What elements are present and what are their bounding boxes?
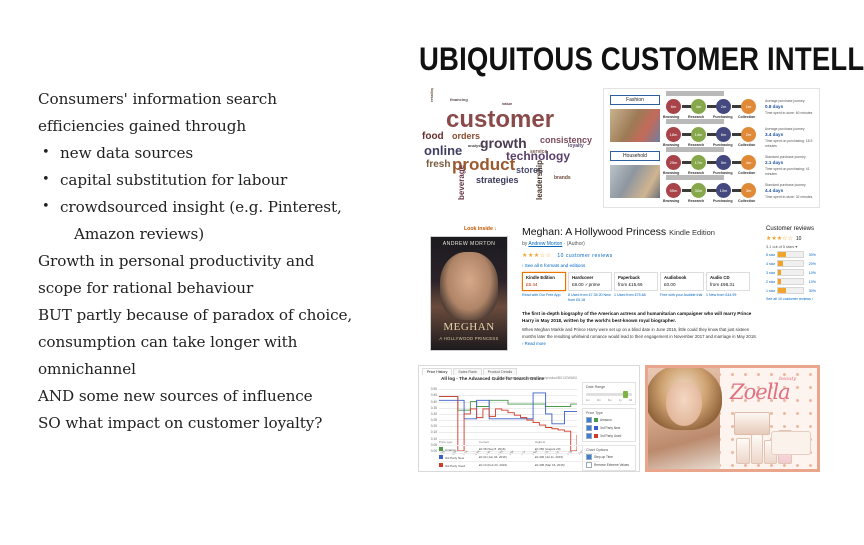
journey-stat-value: 0.8 days (765, 104, 783, 109)
table-row: 3rd Party New£0.32 (Jun 04, 2016)£0.400 … (439, 453, 599, 461)
date-range-tick[interactable]: 1y (619, 398, 622, 402)
byline-suffix: · (Author) (562, 241, 585, 247)
review-bar-track (777, 287, 804, 294)
journey-stat: Average purchase journey3.4 daysTime spe… (765, 127, 815, 148)
word-cloud-term: beverage (458, 165, 466, 200)
cover-title: MEGHAN (431, 321, 507, 333)
format-option[interactable]: Hardcover£8.00 ✓prime (568, 272, 612, 291)
journey-stage-node: 4m (741, 155, 756, 170)
word-cloud-term: brands (554, 176, 571, 181)
y-tick-label: 0.10 (431, 437, 437, 441)
word-cloud-term: customer (446, 108, 554, 132)
journey-row: 18mBrowsing14mResearch6mPurchasing2mColl… (666, 125, 761, 148)
review-bar-row[interactable]: 4 star20% (766, 260, 816, 267)
format-subnote[interactable]: 1 New from £44.99 (706, 293, 750, 304)
chart-tab[interactable]: Price History (422, 368, 452, 375)
format-price: from £98.31 (710, 282, 746, 287)
slider-knob[interactable] (623, 391, 628, 398)
word-cloud-term: retailing (430, 88, 434, 102)
see-all-formats-link[interactable]: › See all 6 formats and editions (522, 263, 758, 268)
table-cell-highest: £0.350 (August 20) (535, 447, 599, 452)
table-cell-series: 3rd Party New (439, 455, 479, 460)
table-cell-highest: £0.495 (Mar 16, 2015) (535, 463, 599, 468)
word-cloud-term: value (502, 102, 512, 106)
y-tick-label: 0.20 (431, 424, 437, 428)
stars-glyphs: ★★★☆☆ (522, 253, 551, 259)
product-binding: Kindle Edition (669, 228, 715, 237)
format-name: Audio CD (710, 275, 746, 280)
column-header: Highest (535, 440, 599, 444)
table-cell-series: 3rd Party Used (439, 463, 479, 468)
series-name: Amazon (445, 448, 456, 452)
journey-stage-label: Purchasing (713, 199, 733, 203)
journey-stat-note: Time spent in-store: 32 minutes (765, 195, 812, 199)
price-type-label: Price Type (586, 411, 632, 415)
journey-stage-node: 17m (691, 155, 706, 170)
journey-category-label: Household (610, 151, 660, 161)
y-tick-label: 0.40 (431, 400, 437, 404)
journey-stage-node: 6m (666, 99, 681, 114)
journey-stage-node: 2m (716, 99, 731, 114)
product-bottle (751, 434, 763, 464)
series-color-swatch (594, 426, 598, 430)
date-range-ticks: 1m3m6m1yAll (586, 398, 632, 402)
reviews-stars: ★★★☆☆10 (766, 235, 816, 242)
review-bar-track (777, 251, 804, 258)
journey-stage-node: 55m (666, 183, 681, 198)
journey-stage-node: 25m (666, 155, 681, 170)
cover-portrait (440, 252, 498, 320)
see-all-reviews-link[interactable]: See all 10 customer reviews › (766, 297, 816, 301)
journey-stat: Average purchase journey0.8 daysTime spe… (765, 99, 815, 116)
product-title: Meghan: A Hollywood Princess Kindle Edit… (522, 226, 758, 238)
date-range-label: Date Range (586, 385, 632, 389)
product-pouch (771, 431, 811, 455)
review-bar-label: 1 star (766, 289, 777, 293)
format-option[interactable]: Kindle Edition£5.44 (522, 272, 566, 291)
word-cloud-term: analysis (468, 144, 484, 148)
journey-row: 6mBrowsing4mResearch2mPurchasing1mCollec… (666, 97, 761, 120)
word-cloud-term: food (422, 132, 444, 142)
series-name: 3rd Party New (445, 456, 464, 460)
review-bar-row[interactable]: 1 star30% (766, 287, 816, 294)
journey-stage-label: Collection (738, 143, 755, 147)
review-bar-label: 5 star (766, 253, 777, 257)
date-range-tick[interactable]: 1m (586, 398, 590, 402)
format-price: £0.00 (664, 282, 700, 287)
date-range-tick[interactable]: All (629, 398, 632, 402)
journey-category-label: Fashion (610, 95, 660, 105)
series-color-swatch (594, 418, 598, 422)
word-cloud-term: leadership (536, 160, 544, 200)
y-tick-label: 0.15 (431, 430, 437, 434)
review-bar-percent: 10% (804, 271, 816, 275)
review-bar-fill (778, 252, 786, 257)
y-tick-label: 0.45 (431, 393, 437, 397)
table-cell-current: £0.32 (Jun 04, 2016) (479, 455, 535, 460)
cover-author: ANDREW MORTON (431, 241, 507, 247)
date-range-box: Date Range 1m3m6m1yAll (582, 382, 636, 405)
format-price: £5.44 (526, 282, 562, 287)
table-cell-series: Amazon (439, 447, 479, 452)
reviews-count: 10 (796, 236, 802, 242)
byline: by Andrew Morton · (Author) (522, 241, 758, 247)
y-tick-label: 0.25 (431, 418, 437, 422)
journey-stage-node: 32m (691, 183, 706, 198)
journey-category-photo (610, 165, 660, 198)
description-bold: The first in-depth biography of the Amer… (522, 310, 758, 325)
price-type-option[interactable]: Amazon (586, 417, 632, 423)
journey-segment-band (666, 119, 724, 124)
journey-row: 55mBrowsing32mResearch10mPurchasing3mCol… (666, 181, 761, 204)
checkbox-icon[interactable] (586, 425, 592, 431)
review-bar-row[interactable]: 5 star30% (766, 251, 816, 258)
price-type-name: 3rd Party New (600, 426, 620, 430)
product-details: Meghan: A Hollywood Princess Kindle Edit… (522, 226, 758, 346)
chart-series-line (439, 393, 577, 424)
journey-stage-node: 3m (741, 183, 756, 198)
y-tick-label: 0.35 (431, 406, 437, 410)
journey-stage-node: 4m (691, 99, 706, 114)
chart-tab[interactable]: Product Details (483, 368, 517, 375)
format-subnote[interactable]: Free with your Audible trial (660, 293, 704, 304)
zoella-brand-sub: beauty (779, 376, 796, 382)
journey-stage-label: Collection (738, 115, 755, 119)
reviews-average[interactable]: 3.1 out of 5 stars ▾ (766, 244, 816, 249)
table-cell-current: £0.38 (Sep 8, 2016) (479, 447, 535, 452)
y-tick-label: 0.30 (431, 412, 437, 416)
face-shape (666, 382, 702, 426)
price-history-chart-image: Price HistorySales RankProduct Details A… (418, 365, 640, 472)
review-bar-row[interactable]: 3 star10% (766, 269, 816, 276)
journey-stage-node: 14m (691, 127, 706, 142)
review-bar-label: 2 star (766, 280, 777, 284)
journey-stat-value: 2.1 days (765, 160, 783, 165)
read-more-link[interactable]: › Read more (522, 341, 758, 346)
zoella-portrait (648, 368, 720, 469)
author-link[interactable]: Andrew Morton (528, 241, 562, 247)
description: When Meghan Markle and Prince Harry were… (522, 327, 758, 341)
cover-subtitle: A HOLLYWOOD PRINCESS (431, 336, 507, 341)
journey-stat-value: 3.4 days (765, 132, 783, 137)
rating-stars[interactable]: ★★★☆☆10 customer reviews (522, 252, 758, 259)
price-type-box: Price Type Amazon3rd Party New3rd Party … (582, 408, 636, 442)
journey-stage-node: 2m (741, 127, 756, 142)
customer-journey-chart-image: Fashion Household 6mBrowsing4mResearch2m… (603, 88, 820, 208)
image-collage: customergrowthproductonlinetechnologycon… (0, 0, 864, 545)
table-row: 3rd Party Used£0.13 (Feb 23, 2016)£0.495… (439, 461, 599, 469)
review-bar-percent: 20% (804, 262, 816, 266)
journey-segment-band (666, 175, 724, 180)
table-cell-highest: £0.400 (Jul 11, 2015) (535, 455, 599, 460)
checkbox-icon[interactable] (586, 417, 592, 423)
format-name: Kindle Edition (526, 275, 562, 280)
amazon-product-page-image: Look inside ↓ ANDREW MORTON MEGHAN A HOL… (418, 214, 820, 354)
format-price: £8.00 ✓prime (572, 282, 608, 288)
word-cloud-term: online (424, 144, 462, 157)
journey-stage-node: 5m (716, 155, 731, 170)
word-cloud-term: orders (452, 132, 480, 141)
review-bar-fill (778, 270, 781, 275)
journey-stat-label: Average purchase journey (765, 99, 805, 103)
journey-segment-band (666, 91, 724, 96)
format-name: Hardcover (572, 275, 608, 280)
journey-stage-label: Research (688, 199, 704, 203)
product-title-text: Meghan: A Hollywood Princess (522, 226, 666, 238)
column-header: Current (479, 440, 535, 444)
review-bar-row[interactable]: 2 star10% (766, 278, 816, 285)
review-bar-label: 4 star (766, 262, 777, 266)
price-type-name: Amazon (600, 418, 612, 422)
customer-reviews-panel: Customer reviews ★★★☆☆10 3.1 out of 5 st… (766, 226, 816, 301)
journey-segment-band (666, 147, 724, 152)
format-subnote[interactable]: 1 Used from £75.68 (614, 293, 658, 304)
stars-glyphs: ★★★☆☆ (766, 236, 793, 242)
review-bar-fill (778, 261, 783, 266)
word-cloud-term: fresh (426, 160, 450, 170)
format-option[interactable]: Audio CDfrom £98.31 (706, 272, 750, 291)
zoella-beauty-image: Zoella beauty (645, 365, 820, 472)
y-tick-label: 0.50 (431, 387, 437, 391)
review-bar-percent: 30% (804, 253, 816, 257)
journey-stage-label: Collection (738, 199, 755, 203)
product-bottle (736, 438, 750, 464)
word-cloud-image: customergrowthproductonlinetechnologycon… (418, 88, 598, 208)
journey-stat-label: Standard purchase journey (765, 183, 806, 187)
journey-stage-label: Collection (738, 171, 755, 175)
journey-row: 25mBrowsing17mResearch5mPurchasing4mColl… (666, 153, 761, 176)
word-cloud-term: service (530, 150, 547, 155)
chart-summary-table: Price typeCurrentHighestAmazon£0.38 (Sep… (439, 439, 599, 469)
journey-stage-node: 1m (741, 99, 756, 114)
chart-tabs: Price HistorySales RankProduct Details (419, 366, 639, 375)
series-color-swatch (439, 455, 443, 459)
journey-stat-label: Average purchase journey (765, 127, 805, 131)
review-bar-fill (778, 288, 786, 293)
format-name: Audiobook (664, 275, 700, 280)
format-subnote[interactable]: 8 Used from £7.35 20 New from £5.18 (568, 293, 612, 304)
product-tin (734, 412, 770, 435)
review-bar-track (777, 278, 804, 285)
series-name: 3rd Party Used (445, 464, 465, 468)
table-cell-current: £0.13 (Feb 23, 2016) (479, 463, 535, 468)
journey-stat: Standard purchase journey2.1 daysTime sp… (765, 155, 815, 176)
date-range-tick[interactable]: 6m (608, 398, 612, 402)
review-bar-percent: 30% (804, 289, 816, 293)
word-cloud-term: financing (450, 98, 468, 102)
word-cloud-term: consistency (540, 136, 592, 145)
series-color-swatch (439, 463, 443, 467)
customer-reviews-heading: Customer reviews (766, 226, 816, 232)
look-inside-link[interactable]: Look inside ↓ (464, 226, 497, 232)
format-tabs: Kindle Edition£5.44Hardcover£8.00 ✓prime… (522, 272, 758, 291)
review-bar-track (777, 260, 804, 267)
journey-stage-node: 10m (716, 183, 731, 198)
chart-series-line (439, 397, 577, 411)
journey-stat: Standard purchase journey4.4 daysTime sp… (765, 183, 815, 200)
review-bar-percent: 10% (804, 280, 816, 284)
series-color-swatch (439, 447, 443, 451)
format-option[interactable]: Audiobook£0.00 (660, 272, 704, 291)
chart-tab[interactable]: Sales Rank (453, 368, 481, 375)
journey-category-photo (610, 109, 660, 142)
journey-stat-note: Time spent in-store: 60 minutes (765, 111, 812, 115)
column-header: Price type (439, 440, 479, 444)
reviews-histogram: 5 star30%4 star20%3 star10%2 star10%1 st… (766, 251, 816, 294)
review-bar-fill (778, 279, 781, 284)
word-cloud-term: strategies (476, 176, 519, 185)
journey-stat-value: 4.4 days (765, 188, 783, 193)
format-option[interactable]: Paperbackfrom £15.66 (614, 272, 658, 291)
review-bar-label: 3 star (766, 271, 777, 275)
price-type-option[interactable]: 3rd Party New (586, 425, 632, 431)
date-range-slider[interactable] (586, 393, 632, 396)
format-name: Paperback (618, 275, 654, 280)
zoella-brand-logo: Zoella (730, 380, 790, 404)
word-cloud-term: loyalty (568, 144, 584, 149)
price-type-name: 3rd Party Used (600, 434, 621, 438)
series-color-swatch (594, 434, 598, 438)
table-row: Amazon£0.38 (Sep 8, 2016)£0.350 (August … (439, 445, 599, 453)
format-price: from £15.66 (618, 282, 654, 287)
format-subnote[interactable]: Read with Our Free App (522, 293, 566, 304)
chart-url-note: http://cc.camelcamelcamel.com/product/B0… (497, 376, 577, 380)
review-bar-track (777, 269, 804, 276)
y-tick-label: 0.00 (431, 449, 437, 453)
journey-stage-label: Browsing (663, 199, 679, 203)
book-cover-image: ANDREW MORTON MEGHAN A HOLLYWOOD PRINCES… (430, 236, 508, 351)
date-range-tick[interactable]: 3m (597, 398, 601, 402)
chart-option-name: Remove Extreme Values (594, 463, 629, 467)
format-subnotes: Read with Our Free App8 Used from £7.35 … (522, 293, 758, 304)
journey-stat-note: Time spent on purchasing: 41 minutes (765, 167, 810, 176)
journey-stat-note: Time spent on purchasing: 18.5 minutes (765, 139, 812, 148)
journey-stage-node: 6m (716, 127, 731, 142)
journey-stat-label: Standard purchase journey (765, 155, 806, 159)
review-count-link[interactable]: 10 customer reviews (557, 253, 612, 259)
journey-stage-node: 18m (666, 127, 681, 142)
word-cloud-term: growth (480, 136, 527, 150)
y-tick-label: 0.05 (431, 443, 437, 447)
price-type-options: Amazon3rd Party New3rd Party Used (586, 417, 632, 439)
